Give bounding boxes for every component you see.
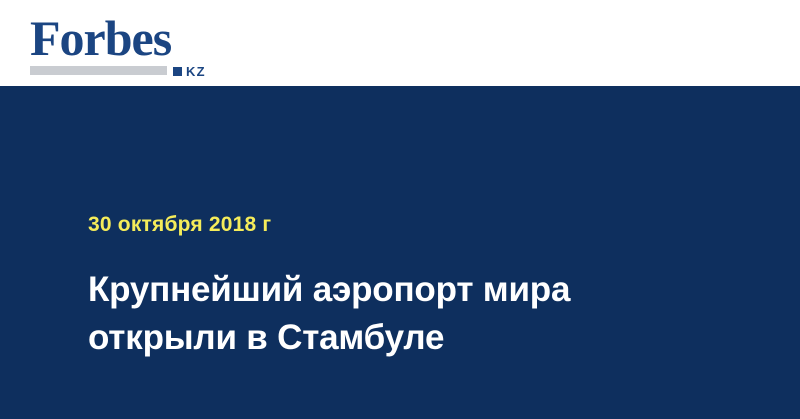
article-body: 30 октября 2018 г Крупнейший аэропорт ми… bbox=[0, 86, 800, 419]
forbes-wordmark: Forbes bbox=[30, 12, 171, 64]
article-headline-line-1: Крупнейший аэропорт мира bbox=[88, 266, 688, 314]
logo-locale-label: KZ bbox=[186, 65, 206, 78]
logo-rule-divider bbox=[30, 66, 167, 75]
square-icon bbox=[173, 67, 182, 76]
article-date: 30 октября 2018 г bbox=[88, 213, 271, 237]
article-headline-line-2: открыли в Стамбуле bbox=[88, 314, 688, 362]
article-card: Forbes KZ 30 октября 2018 г Крупнейший а… bbox=[0, 0, 800, 419]
logo-locale-badge: KZ bbox=[173, 65, 206, 78]
site-header: Forbes KZ bbox=[0, 0, 800, 86]
article-headline[interactable]: Крупнейший аэропорт мира открыли в Стамб… bbox=[88, 266, 688, 362]
forbes-kz-logo[interactable]: Forbes KZ bbox=[30, 12, 220, 78]
